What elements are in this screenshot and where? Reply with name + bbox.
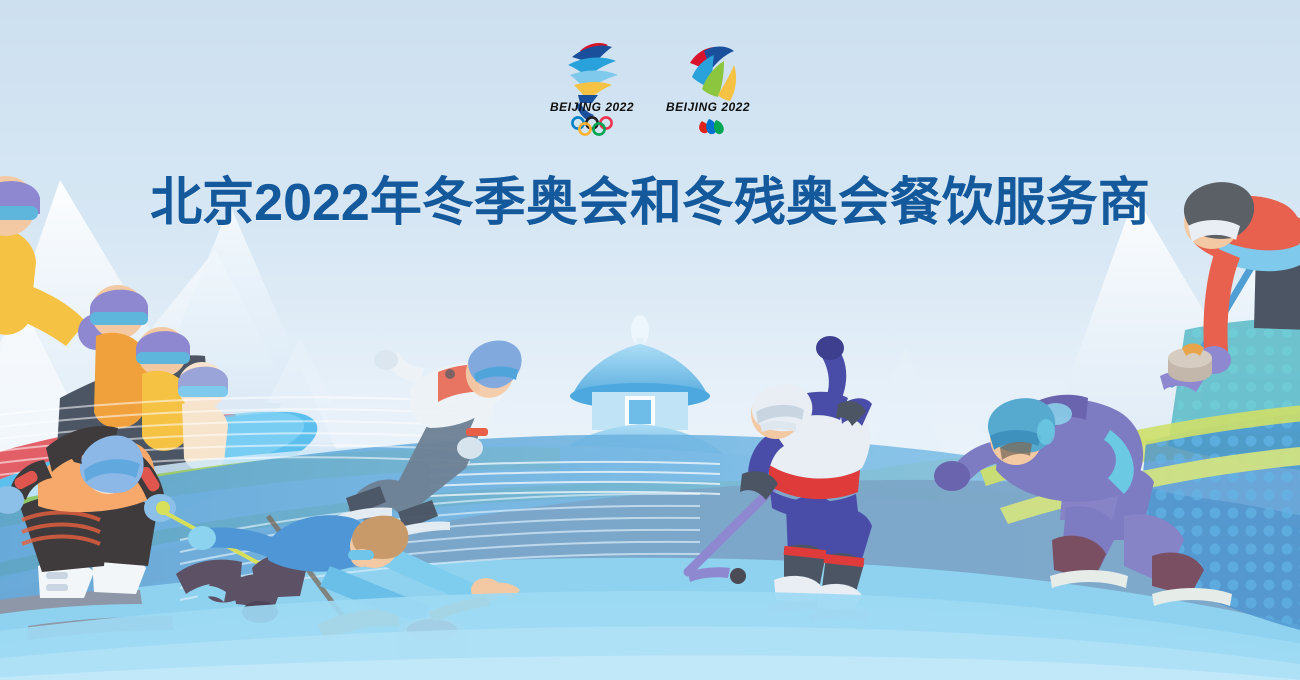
- blue-dot-panel: [1080, 390, 1300, 660]
- flying-high-ribbon-paralympic: [690, 47, 736, 102]
- speed-lines-center: [180, 494, 700, 600]
- wave-pale-left: [0, 444, 1300, 680]
- bobsleigh-athlete-middle: [90, 285, 148, 428]
- beijing-2022-olympic-emblem: BEIJING 2022: [542, 33, 642, 138]
- emblem-row: BEIJING 2022 BEI: [0, 33, 1300, 138]
- paralympic-wordmark: BEIJING 2022: [666, 100, 750, 114]
- teal-dot-panel: [1100, 300, 1300, 500]
- green-ribbon-long: [0, 481, 1300, 586]
- bobsleigh-sled: [0, 355, 317, 583]
- beijing-2022-paralympic-emblem: BEIJING 2022: [658, 33, 758, 138]
- wave-light-foreground: [0, 558, 1300, 680]
- paralympic-emblem-graphic: BEIJING 2022: [658, 33, 758, 138]
- wave-mid: [0, 434, 1300, 680]
- front-wave-a: [0, 591, 1300, 680]
- front-wave-c: [0, 655, 1300, 680]
- wave-deep: [330, 480, 1300, 662]
- olympic-wordmark: BEIJING 2022: [550, 100, 634, 114]
- beijing-2022-catering-service-banner: BEIJING 2022 BEI: [0, 0, 1300, 680]
- curling-stone-right: [1168, 344, 1212, 383]
- pine-trees: [262, 345, 1026, 470]
- olympic-rings: [572, 117, 611, 134]
- green-ribbon-left: [0, 447, 560, 536]
- wave-pale-foreground: [0, 603, 1300, 680]
- olympic-emblem-graphic: BEIJING 2022: [542, 33, 642, 138]
- title-block: 北京2022年冬季奥会和冬残奥会餐饮服务商: [0, 140, 1300, 266]
- curling-stone: [398, 596, 490, 667]
- speed-lines-left: [0, 397, 470, 480]
- bobsleigh-athlete-fourth: [178, 362, 228, 471]
- lime-ribbon-right: [620, 430, 1300, 540]
- temple-of-heaven: [480, 315, 810, 590]
- bobsleigh-athlete-rear: [136, 327, 190, 451]
- front-wave-b: [0, 626, 1300, 680]
- bobsleigh-track: [0, 414, 310, 648]
- speed-lines-temple: [430, 462, 720, 496]
- agitos: [699, 119, 724, 134]
- page-title: 北京2022年冬季奥会和冬残奥会餐饮服务商: [150, 175, 1150, 231]
- lime-ribbons-right: [980, 402, 1300, 524]
